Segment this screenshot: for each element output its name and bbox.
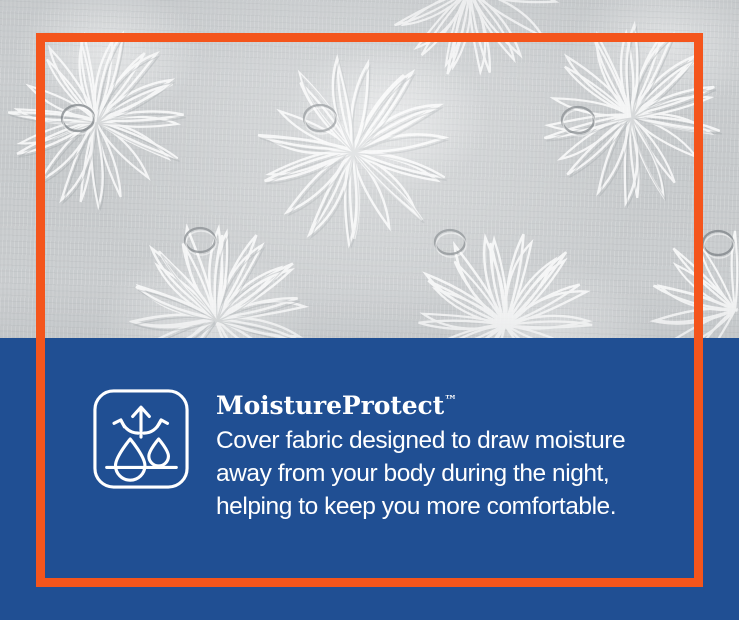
product-feature-card: MoistureProtect™ Cover fabric designed t… — [0, 0, 739, 620]
trademark-symbol: ™ — [444, 394, 457, 409]
fabric-photo — [0, 0, 739, 338]
feature-content: MoistureProtect™ Cover fabric designed t… — [92, 388, 625, 524]
feature-text-block: MoistureProtect™ Cover fabric designed t… — [216, 388, 625, 524]
feature-description: Cover fabric designed to draw moisture a… — [216, 425, 625, 524]
moisture-wicking-icon — [92, 388, 190, 490]
feature-info-panel: MoistureProtect™ Cover fabric designed t… — [0, 338, 739, 620]
feature-title: MoistureProtect™ — [216, 392, 625, 420]
feature-title-text: MoistureProtect — [216, 391, 444, 420]
fabric-lighting-overlay — [0, 0, 739, 338]
